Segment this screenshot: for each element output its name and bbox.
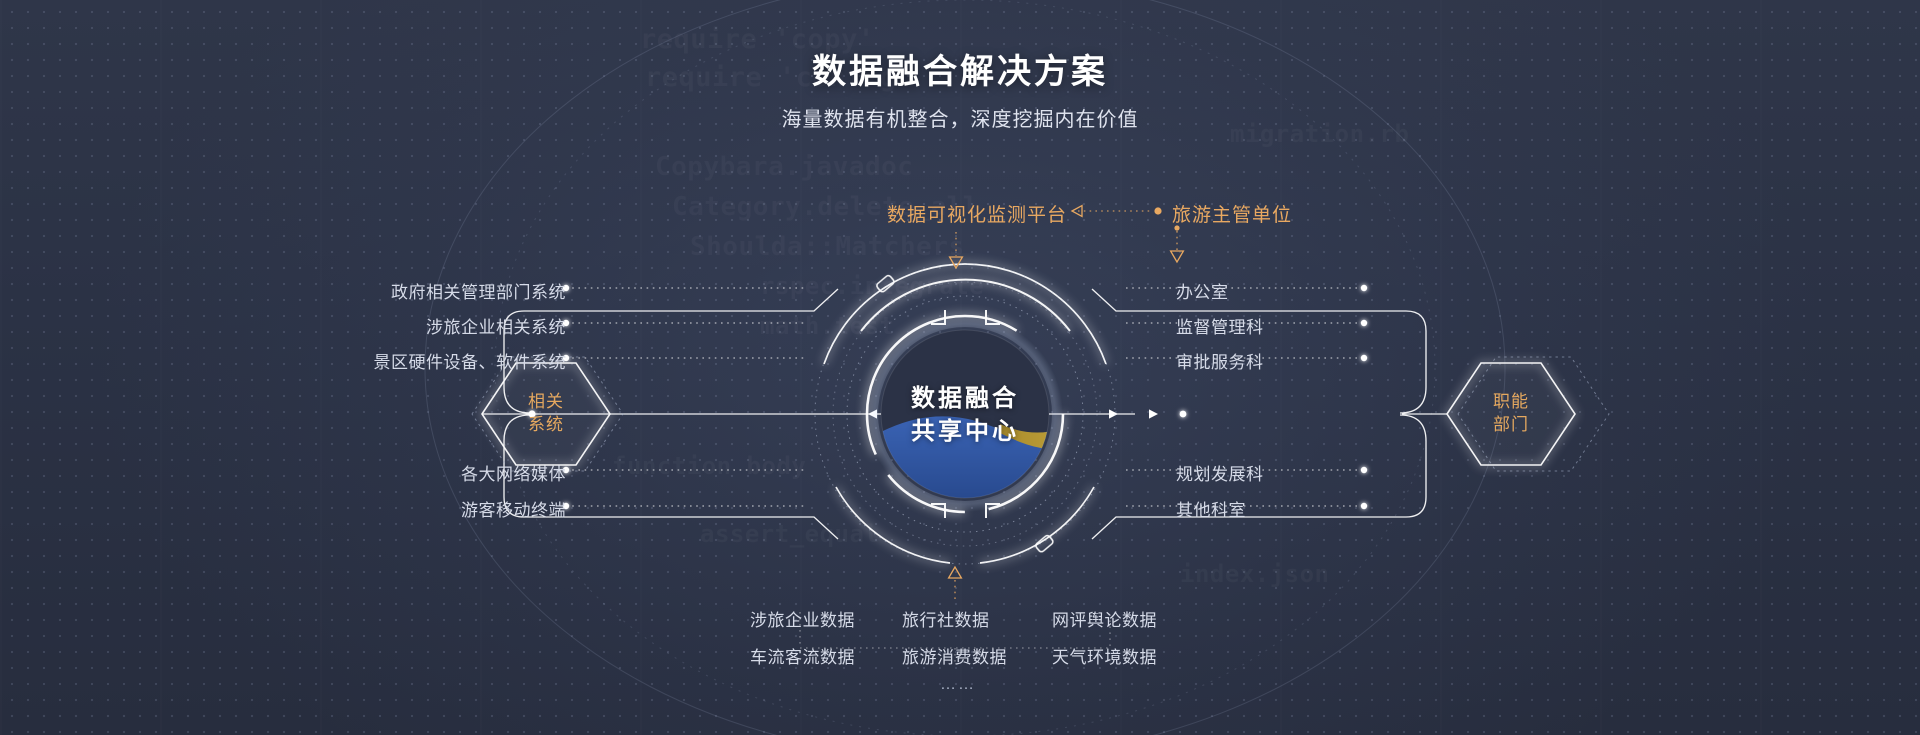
bottom-item-weather-environment-data[interactable]: 天气环境数据	[1052, 643, 1157, 668]
bottom-item-travel-agency-data[interactable]: 旅行社数据	[902, 606, 990, 631]
bottom-item-online-review-data[interactable]: 网评舆论数据	[1052, 606, 1157, 631]
bottom-item-enterprise-data[interactable]: 涉旅企业数据	[750, 606, 855, 631]
right-item-office[interactable]: 办公室	[1176, 278, 1229, 303]
left-item-gov-systems[interactable]: 政府相关管理部门系统	[391, 278, 566, 303]
left-item-network-media[interactable]: 各大网络媒体	[461, 460, 566, 485]
right-hexagon-label: 职能 部门	[1451, 390, 1571, 436]
right-feed-endpoint-dots	[1361, 285, 1367, 509]
right-hexagon-label-line1: 职能	[1451, 390, 1571, 413]
left-hexagon-label-line2: 系统	[486, 413, 606, 436]
left-hexagon-label: 相关 系统	[486, 390, 606, 436]
right-item-supervision-dept[interactable]: 监督管理科	[1176, 313, 1264, 338]
bottom-item-tourism-consumption-data[interactable]: 旅游消费数据	[902, 643, 1007, 668]
left-item-tourism-enterprise-systems[interactable]: 涉旅企业相关系统	[426, 313, 566, 338]
right-connector-group	[1092, 289, 1447, 539]
infographic-canvas: require 'copy' require 'config' Copybara…	[0, 0, 1920, 735]
right-hexagon-label-line2: 部门	[1451, 413, 1571, 436]
node-tourism-authority[interactable]: 旅游主管单位	[1172, 200, 1292, 227]
bottom-item-traffic-flow-data[interactable]: 车流客流数据	[750, 643, 855, 668]
right-item-planning-development-dept[interactable]: 规划发展科	[1176, 460, 1264, 485]
node-data-visualization-platform[interactable]: 数据可视化监测平台	[887, 200, 1067, 227]
left-hexagon-label-line1: 相关	[486, 390, 606, 413]
page-subtitle: 海量数据有机整合，深度挖掘内在价值	[0, 103, 1920, 132]
right-item-approval-service-dept[interactable]: 审批服务科	[1176, 348, 1264, 373]
central-ring-system	[815, 264, 1115, 564]
left-item-scenic-hardware-software[interactable]: 景区硬件设备、软件系统	[374, 348, 567, 373]
bottom-ellipsis: ……	[940, 676, 976, 694]
page-title: 数据融合解决方案	[0, 44, 1920, 93]
left-item-tourist-mobile-terminal[interactable]: 游客移动终端	[461, 496, 566, 521]
right-item-other-depts[interactable]: 其他科室	[1176, 496, 1246, 521]
